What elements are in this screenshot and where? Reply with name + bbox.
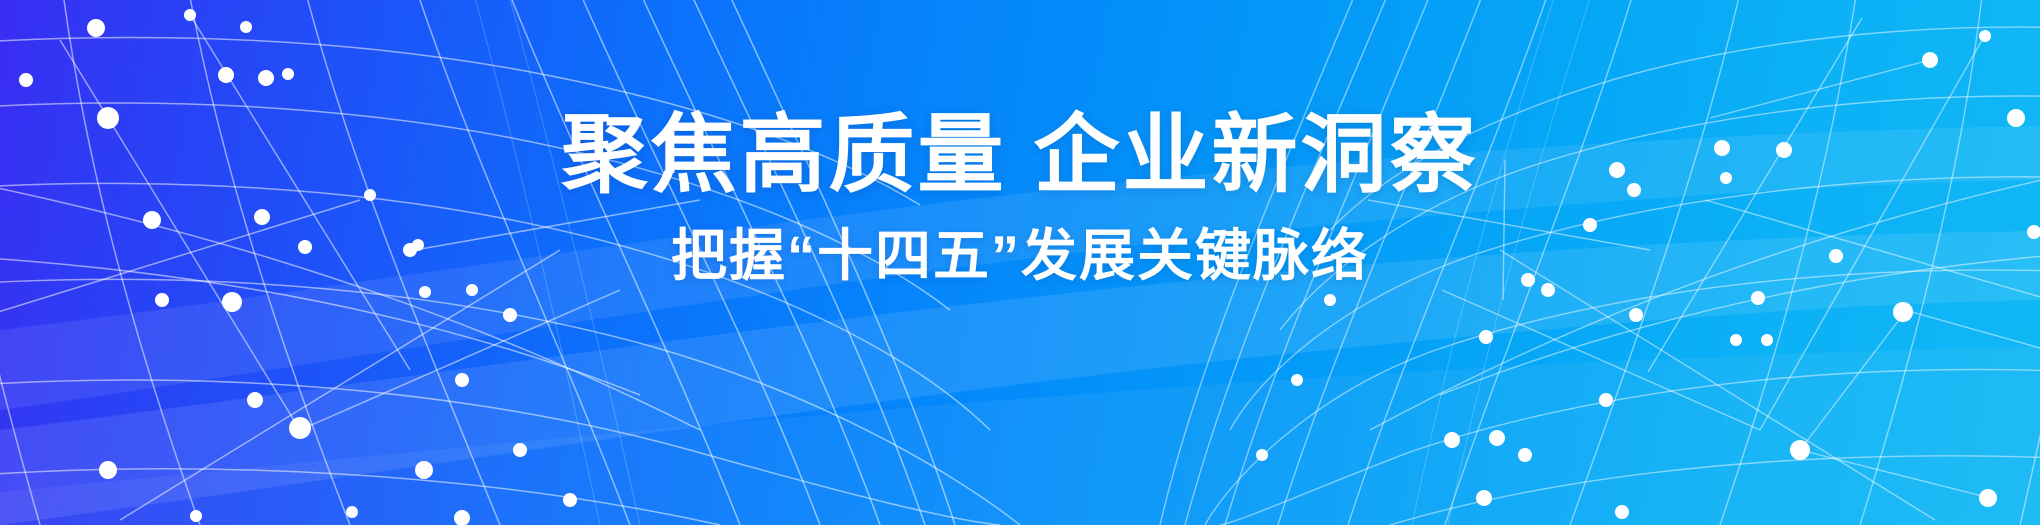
banner-text-block: 聚焦高质量 企业新洞察 把握“十四五”发展关键脉络 xyxy=(0,0,2040,525)
page-title: 聚焦高质量 企业新洞察 xyxy=(562,112,1479,198)
promo-banner: 聚焦高质量 企业新洞察 把握“十四五”发展关键脉络 xyxy=(0,0,2040,525)
page-subtitle: 把握“十四五”发展关键脉络 xyxy=(671,228,1369,284)
